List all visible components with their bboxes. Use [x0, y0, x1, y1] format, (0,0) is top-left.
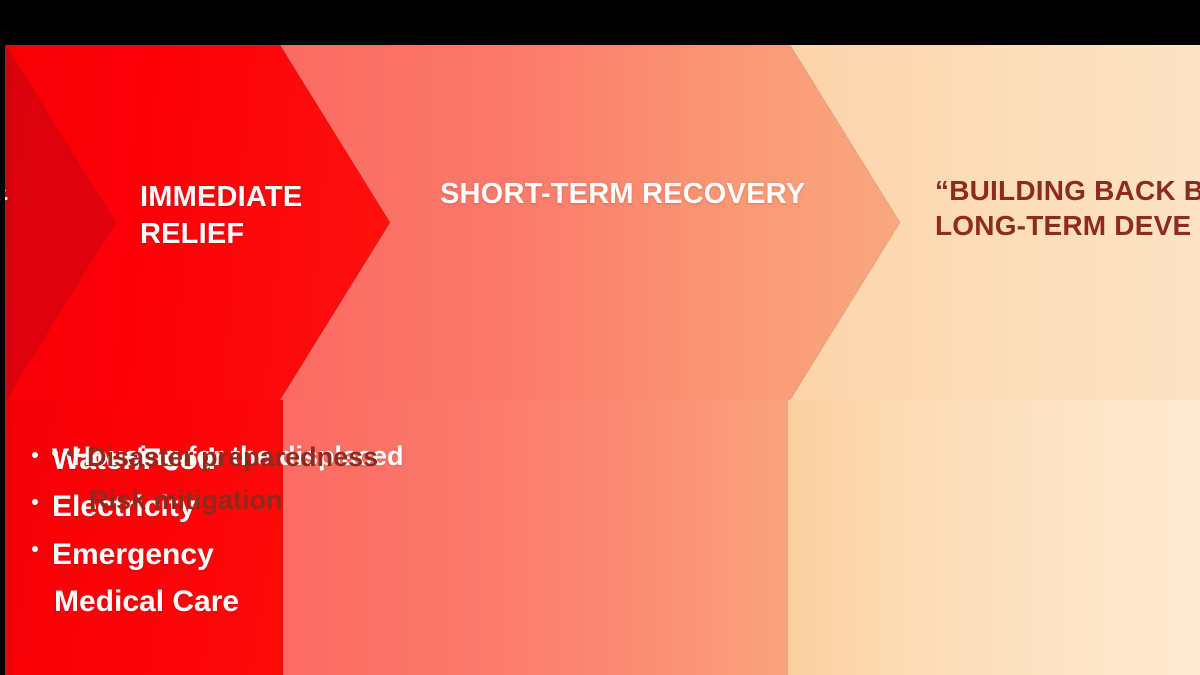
bullet-text: Emergency: [52, 538, 214, 571]
diagram-canvas: CH & E RS) IMMEDIATE RELIEF SHORT-TERM R…: [0, 0, 1200, 675]
list-item: Emergency Medical Care: [30, 531, 239, 626]
stage-title-line: “BUILDING BACK B: [935, 173, 1200, 208]
stage-title-line: LONG-TERM DEVE: [935, 208, 1200, 243]
bullet-dot-icon: [32, 546, 38, 552]
stage-title-short-term-recovery: SHORT-TERM RECOVERY: [440, 176, 805, 213]
bullet-dot-icon: [52, 450, 58, 456]
bullet-list-building-back-better: Disaster preparedness Risk mitigation: [65, 436, 378, 521]
stage-title-immediate-relief: IMMEDIATE RELIEF: [140, 179, 302, 252]
stage-title-line: SHORT-TERM RECOVERY: [440, 176, 805, 213]
bullet-text: Disaster preparedness: [87, 442, 378, 472]
detail-column-building-back-better: [788, 400, 1200, 675]
list-item: Disaster preparedness Risk mitigation: [65, 436, 378, 521]
chevron-band: CH & E RS) IMMEDIATE RELIEF SHORT-TERM R…: [0, 45, 1200, 400]
letterbox-top-bar: [0, 0, 1200, 45]
stage-title-line: RELIEF: [140, 216, 302, 253]
stage-title-building-back-better: “BUILDING BACK B LONG-TERM DEVE: [935, 173, 1200, 244]
bullet-dot-icon: [32, 452, 38, 458]
detail-band: Water/Food Electricity Emergency Medical…: [0, 400, 1200, 675]
bullet-dot-icon: [32, 499, 38, 505]
letterbox-left-edge: [0, 45, 5, 675]
bullet-text-continuation: Medical Care: [52, 578, 239, 625]
stage-title-line: IMMEDIATE: [140, 179, 302, 216]
bullet-dot-icon: [67, 450, 73, 456]
bullet-text-continuation: Risk mitigation: [87, 479, 378, 522]
